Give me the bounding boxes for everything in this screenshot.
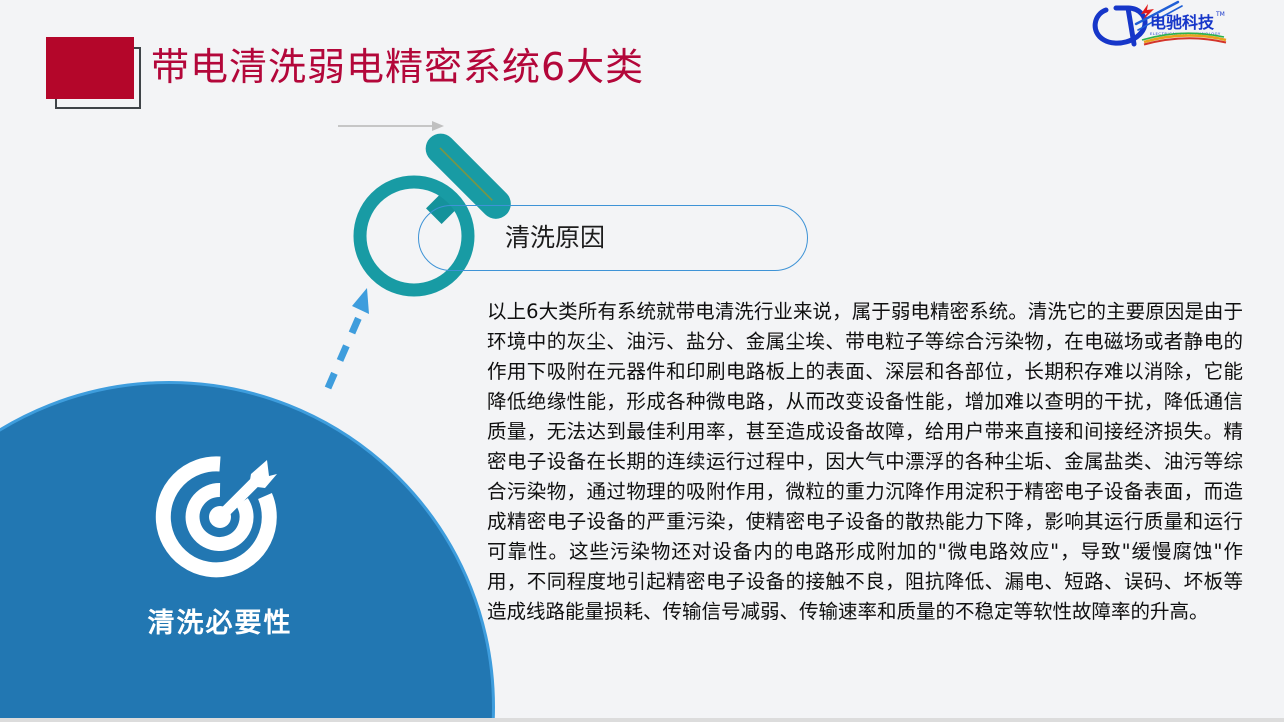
target-with-arrow-icon — [155, 452, 285, 582]
body-paragraph: 以上6大类所有系统就带电清洗行业来说，属于弱电精密系统。清洗它的主要原因是由于环… — [487, 297, 1243, 627]
logo-chinese-text: 电驰科技 — [1150, 13, 1215, 32]
page-title: 带电清洗弱电精密系统6大类 — [151, 40, 644, 94]
company-logo: 电驰科技 TM ELECTRICAL CHI TECHNOLOGY — [1086, 0, 1276, 50]
cleaning-necessity-label: 清洗必要性 — [0, 605, 440, 643]
logo-trademark: TM — [1215, 11, 1225, 18]
title-accent-square — [46, 37, 134, 99]
slide-canvas: 电驰科技 TM ELECTRICAL CHI TECHNOLOGY 带电清洗弱电… — [0, 0, 1284, 722]
bottom-strip — [0, 718, 1284, 722]
cleaning-reason-label: 清洗原因 — [505, 221, 605, 255]
dashed-arrow-icon — [320, 262, 440, 402]
cleaning-reason-pill — [418, 205, 808, 271]
